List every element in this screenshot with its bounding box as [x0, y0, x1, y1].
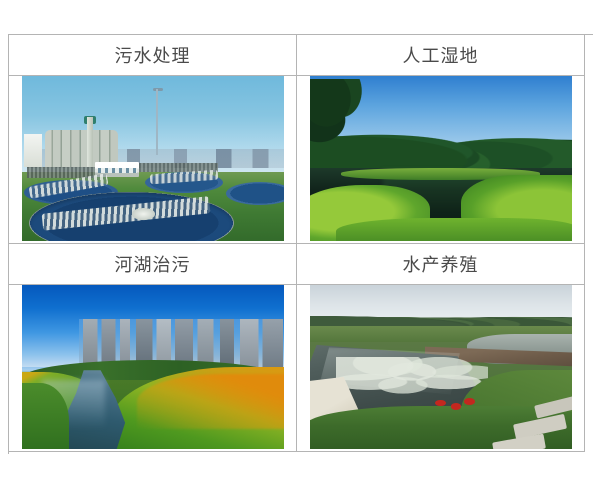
foreground-tree	[310, 79, 368, 145]
wastewater-treatment-plant-photo	[22, 76, 284, 241]
light-pole	[156, 89, 157, 155]
image-cell-aquaculture	[297, 285, 585, 452]
caption-text-wastewater: 污水处理	[115, 42, 191, 68]
caption-text-aquaculture: 水产养殖	[403, 251, 479, 277]
aerator-float-3	[464, 398, 474, 405]
image-cell-river	[9, 285, 297, 452]
river-lake-pollution-control-photo	[22, 285, 284, 449]
orange-flower-field	[137, 374, 284, 430]
foreground-grass-bank	[336, 218, 572, 241]
caption-cell-wastewater: 污水处理	[9, 35, 297, 76]
clarifier-center-hub	[132, 208, 156, 220]
caption-cell-river: 河湖治污	[9, 244, 297, 285]
tower-shaft	[87, 117, 93, 167]
aquaculture-pond-photo	[310, 285, 572, 449]
image-cell-wastewater	[9, 76, 297, 244]
surface-foam-patches	[336, 357, 488, 400]
image-cell-wetland	[297, 76, 585, 244]
caption-text-river: 河湖治污	[115, 251, 191, 277]
photo-grid-table: 污水处理 人工湿地	[8, 34, 593, 454]
aerator-float-2	[451, 403, 461, 410]
caption-cell-wetland: 人工湿地	[297, 35, 585, 76]
clarifier-tank-right	[226, 182, 284, 205]
white-building	[24, 134, 42, 167]
image-grid-page: 污水处理 人工湿地	[0, 0, 600, 488]
constructed-wetland-photo	[310, 76, 572, 241]
caption-text-wetland: 人工湿地	[403, 42, 479, 68]
aerator-float-1	[435, 400, 445, 407]
caption-cell-aquaculture: 水产养殖	[297, 244, 585, 285]
light-pole-head	[153, 88, 163, 91]
